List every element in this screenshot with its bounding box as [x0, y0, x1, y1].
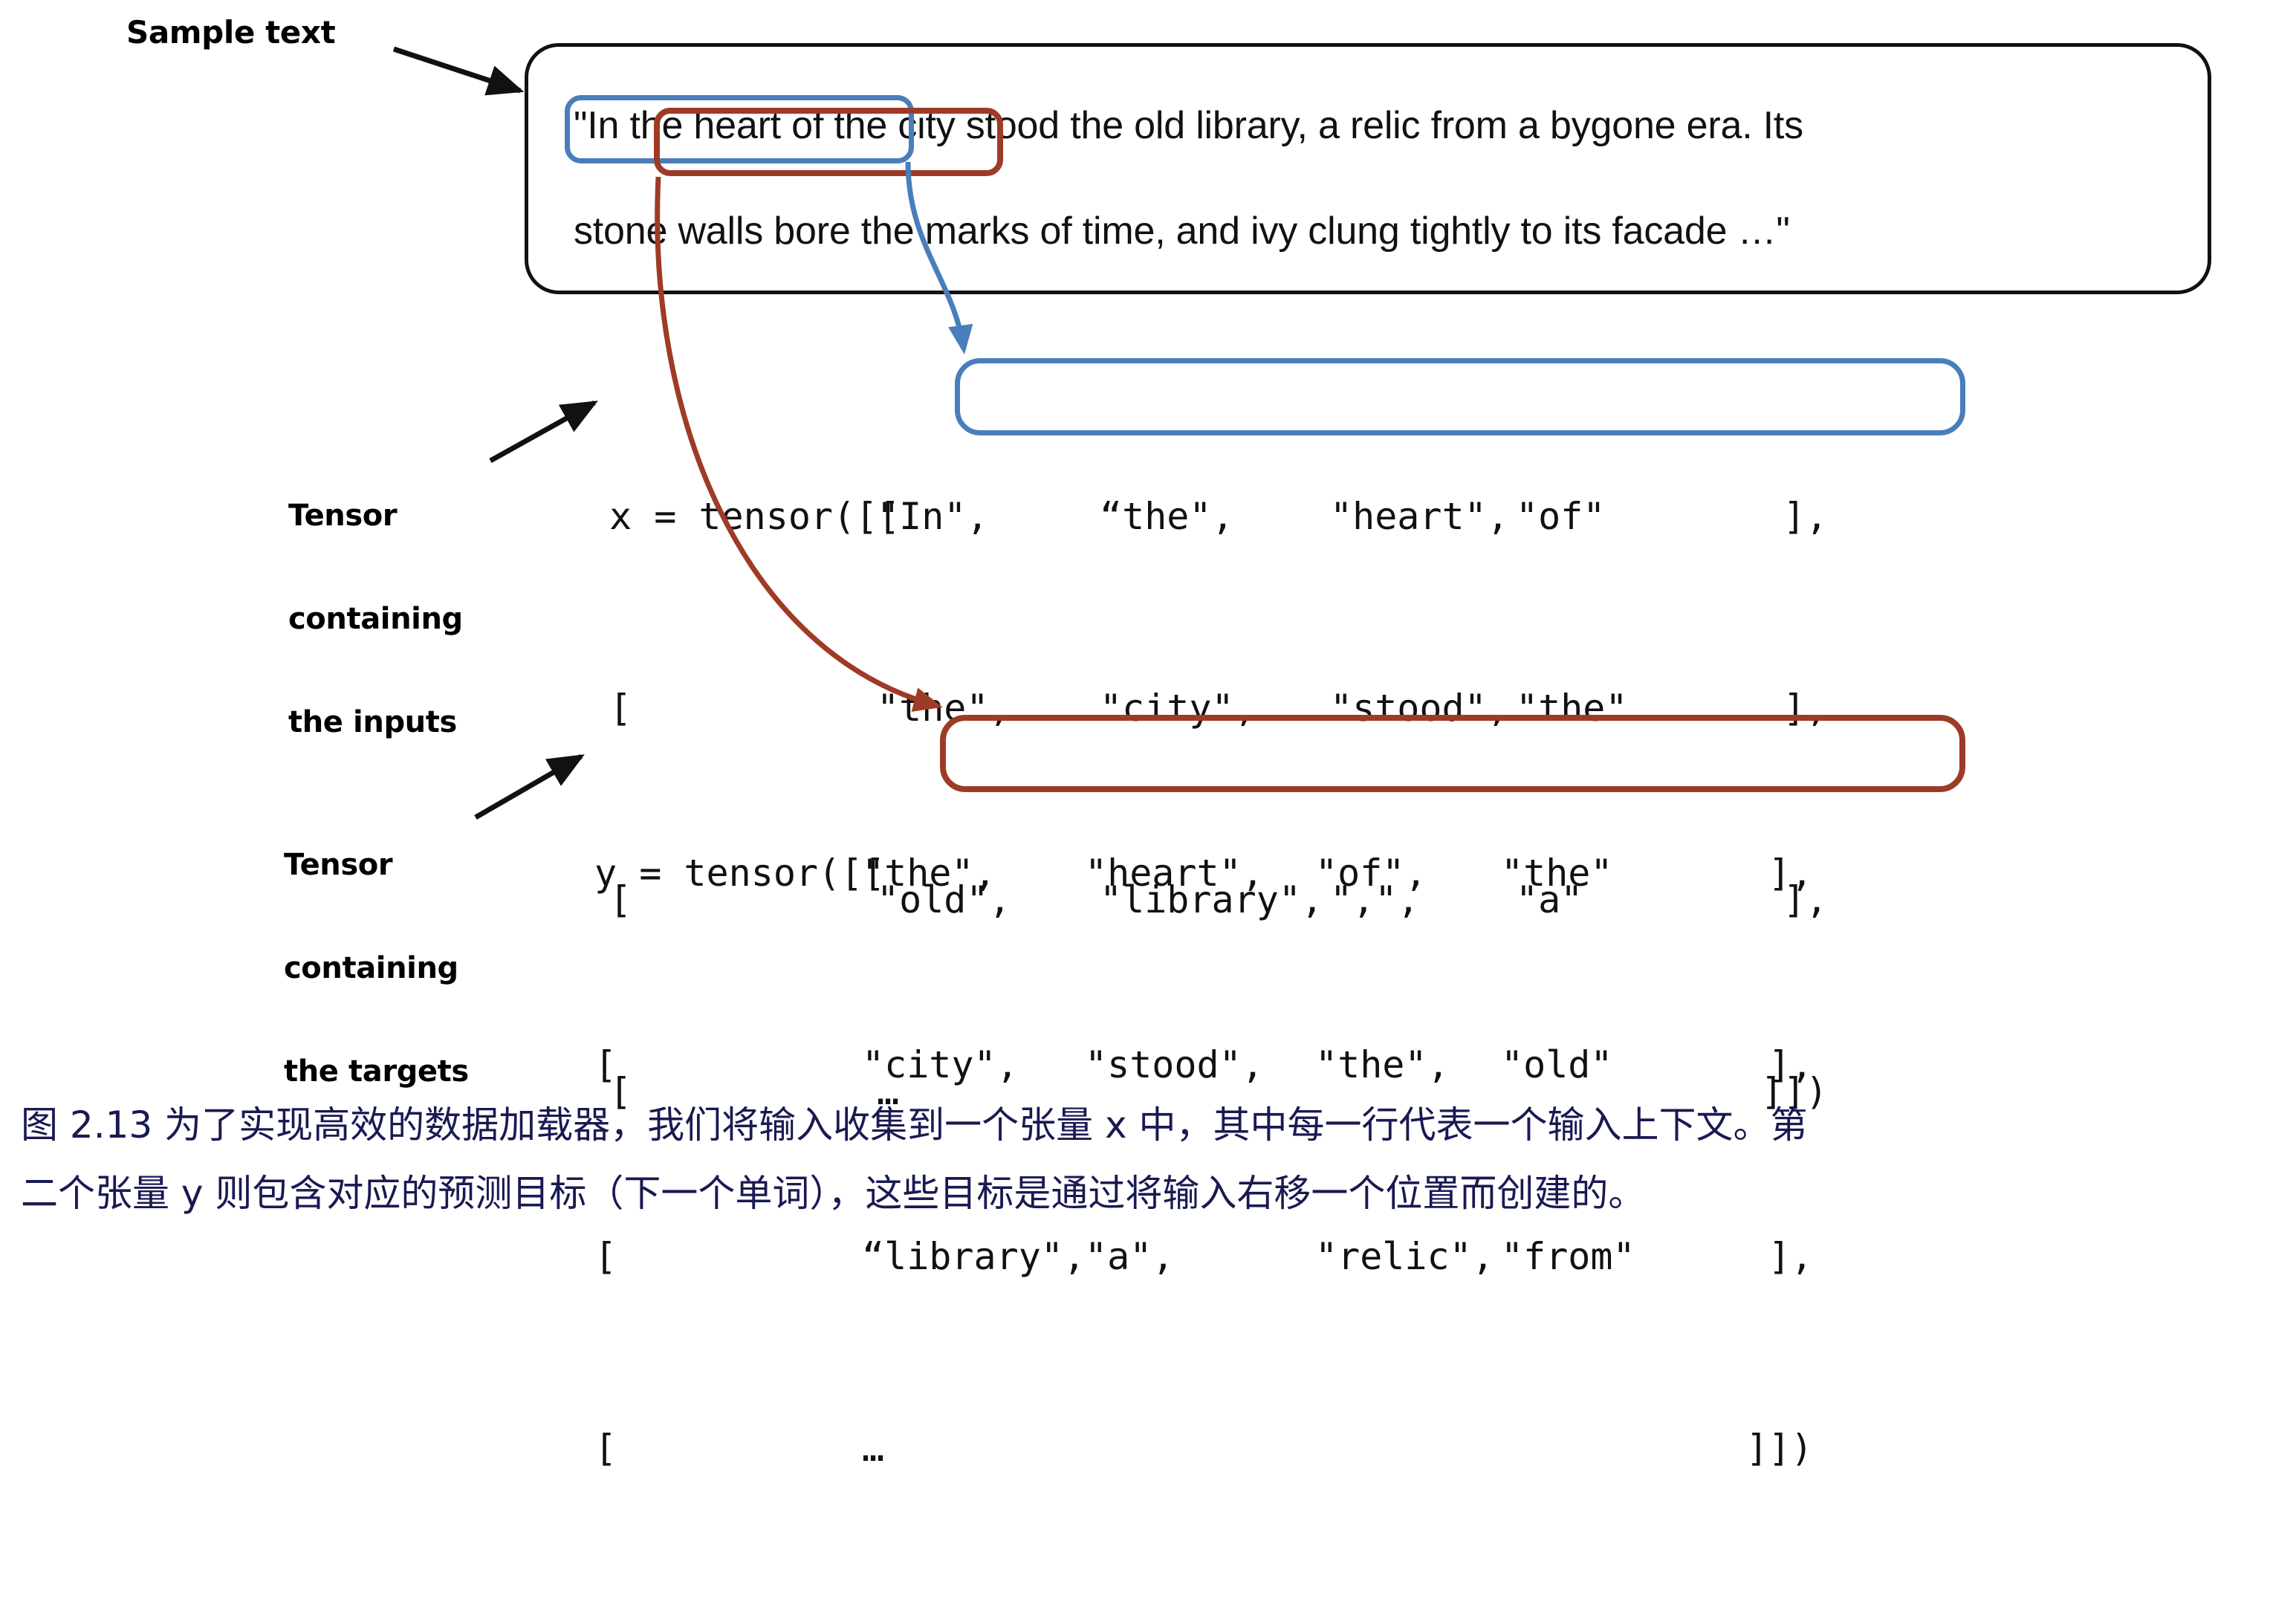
tensor-y-cell-1-0: "city", [862, 1033, 1085, 1097]
tensor-y-close-2: ], [1672, 1225, 1813, 1288]
tensor-y-close-0: ], [1672, 841, 1813, 905]
annotation-targets-line-0: Tensor [284, 848, 469, 882]
tensor-x-cell-0-2: "heart", [1330, 484, 1516, 548]
figure-container: "In the heart of the city stood the old … [0, 0, 2296, 1239]
annotation-sample-text: Sample text [126, 15, 335, 51]
tensor-y-cell-3-0: … [862, 1416, 1085, 1480]
tensor-x-close-0: ], [1687, 484, 1828, 548]
source-highlight-red [654, 108, 1003, 176]
tensor-y-open-1: [ [594, 1033, 862, 1097]
tensor-x-prefix: x = tensor([[ [609, 484, 877, 548]
arrow-inputs-label-to-x [490, 403, 594, 461]
tensor-y-close-1: ], [1672, 1033, 1813, 1097]
tensor-y-row-0: y = tensor([["the","heart","of","the"], [594, 841, 1813, 905]
annotation-targets-line-2: the targets [284, 1054, 469, 1089]
tensor-y-cell-2-0: “library", [862, 1225, 1085, 1288]
tensor-y-row-1: ["city","stood","the","old"], [594, 1033, 1813, 1097]
tensor-x-cell-0-1: “the", [1100, 484, 1330, 548]
tensor-y-open-2: [ [594, 1225, 862, 1288]
annotation-inputs-line-0: Tensor [288, 499, 463, 533]
tensor-y-cell-0-1: "heart", [1085, 841, 1315, 905]
tensor-y-cell-0-3: "the" [1501, 841, 1672, 905]
tensor-y-first-row-highlight [940, 715, 1965, 792]
tensor-y-close-3: ]]) [1672, 1416, 1813, 1480]
tensor-y-cell-1-2: "the", [1315, 1033, 1501, 1097]
tensor-y-row-3: […]]) [594, 1416, 1813, 1480]
annotation-targets-line-1: containing [284, 951, 469, 985]
tensor-y-cell-1-3: "old" [1501, 1033, 1672, 1097]
tensor-x-cell-0-3: "of" [1516, 484, 1687, 548]
tensor-y-row-2: [“library","a","relic","from"], [594, 1225, 1813, 1288]
tensor-y-cell-0-0: "the", [862, 841, 1085, 905]
tensor-x-first-row-highlight [955, 358, 1965, 435]
arrow-targets-label-to-y [476, 756, 581, 817]
tensor-y-cell-2-2: "relic", [1315, 1225, 1501, 1288]
tensor-y-cell-1-1: "stood", [1085, 1033, 1315, 1097]
tensor-y-prefix: y = tensor([[ [594, 841, 862, 905]
sample-text-line-2: stone walls bore the marks of time, and … [574, 193, 2193, 269]
annotation-inputs-line-2: the inputs [288, 705, 463, 739]
tensor-x-row-0: x = tensor([["In",“the","heart","of"], [609, 484, 1828, 548]
tensor-x-cell-0-0: "In", [877, 484, 1100, 548]
caption-line-1: 图 2.13 为了实现高效的数据加载器，我们将输入收集到一个张量 x 中，其中每… [21, 1091, 2272, 1159]
arrow-sample-text-to-panel [394, 49, 520, 91]
annotation-inputs-line-1: containing [288, 602, 463, 636]
tensor-y-cell-0-2: "of", [1315, 841, 1501, 905]
tensor-y-cell-2-1: "a", [1085, 1225, 1315, 1288]
tensor-y-open-3: [ [594, 1416, 862, 1480]
annotation-tensor-inputs: Tensor containing the inputs [288, 429, 463, 808]
tensor-y-cell-2-3: "from" [1501, 1225, 1672, 1288]
caption-line-2: 二个张量 y 则包含对应的预测目标（下一个单词），这些目标是通过将输入右移一个位… [21, 1159, 2272, 1228]
figure-caption: 图 2.13 为了实现高效的数据加载器，我们将输入收集到一个张量 x 中，其中每… [21, 1091, 2272, 1228]
